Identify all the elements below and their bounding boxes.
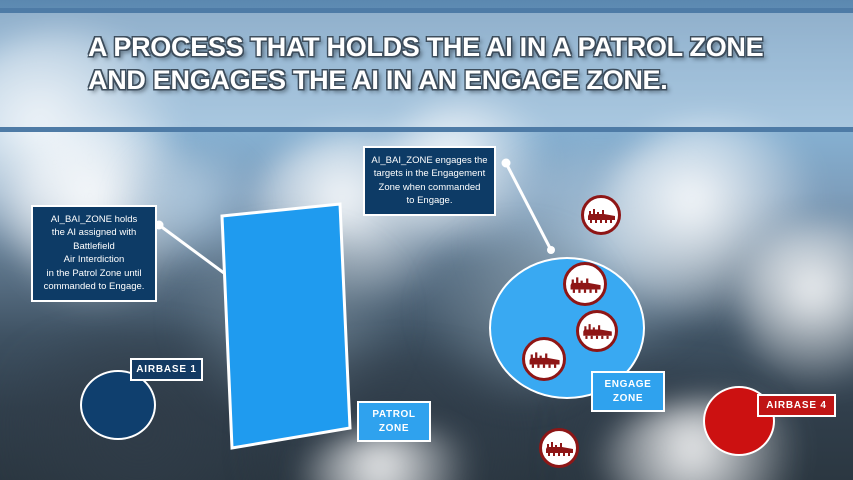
callout-line: Zone when commanded bbox=[371, 181, 488, 194]
target-marker[interactable] bbox=[581, 195, 621, 235]
callout-patrol-zone[interactable]: AI_BAI_ZONE holds the AI assigned with B… bbox=[31, 205, 157, 302]
engage-zone-label-line2: ZONE bbox=[593, 392, 663, 406]
title-banner: A PROCESS THAT HOLDS THE AI IN A PATROL … bbox=[0, 8, 853, 132]
callout-line: Battlefield bbox=[39, 240, 149, 253]
industrial-target-icon bbox=[544, 439, 574, 457]
page-title: A PROCESS THAT HOLDS THE AI IN A PATROL … bbox=[88, 31, 808, 98]
callout-line: to Engage. bbox=[371, 194, 488, 207]
target-marker[interactable] bbox=[539, 428, 579, 468]
engage-zone-label[interactable]: ENGAGE ZONE bbox=[591, 371, 665, 412]
airbase-1-label[interactable]: AIRBASE 1 bbox=[130, 358, 203, 381]
callout-line: Air Interdiction bbox=[39, 253, 149, 266]
engage-zone-label-line1: ENGAGE bbox=[593, 378, 663, 392]
callout-line: AI_BAI_ZONE engages the bbox=[371, 154, 488, 167]
industrial-target-icon bbox=[527, 349, 561, 369]
callout-line: commanded to Engage. bbox=[39, 280, 149, 293]
target-marker[interactable] bbox=[522, 337, 566, 381]
industrial-target-icon bbox=[586, 206, 616, 224]
slide-canvas: A PROCESS THAT HOLDS THE AI IN A PATROL … bbox=[0, 0, 853, 480]
callout-engage-zone[interactable]: AI_BAI_ZONE engages the targets in the E… bbox=[363, 146, 496, 216]
callout-line: the AI assigned with bbox=[39, 226, 149, 239]
callout-line: targets in the Engagement bbox=[371, 167, 488, 180]
airbase-4-label[interactable]: AIRBASE 4 bbox=[757, 394, 836, 417]
patrol-zone-label-line2: ZONE bbox=[359, 422, 429, 436]
industrial-target-icon bbox=[568, 274, 602, 294]
callout-line: AI_BAI_ZONE holds bbox=[39, 213, 149, 226]
industrial-target-icon bbox=[581, 321, 613, 340]
callout-line: in the Patrol Zone until bbox=[39, 267, 149, 280]
patrol-zone-label[interactable]: PATROL ZONE bbox=[357, 401, 431, 442]
target-marker[interactable] bbox=[576, 310, 618, 352]
patrol-zone-label-line1: PATROL bbox=[359, 408, 429, 422]
target-marker[interactable] bbox=[563, 262, 607, 306]
